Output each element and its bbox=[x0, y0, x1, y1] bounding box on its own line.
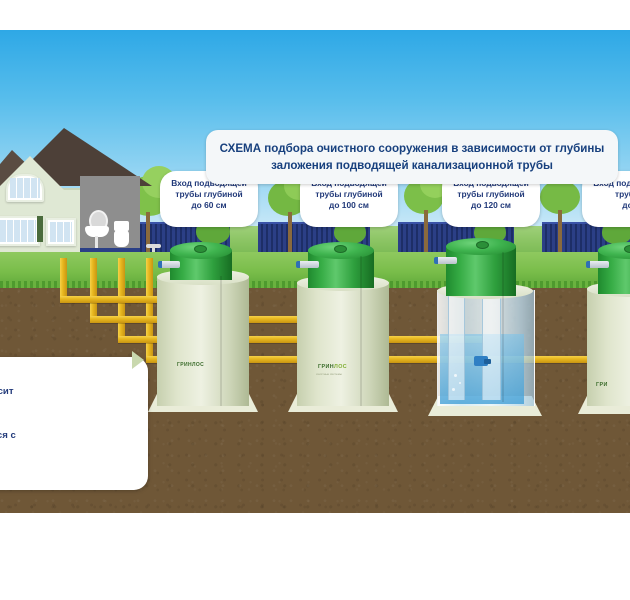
sink-drain-pipe bbox=[95, 236, 98, 248]
tank-inlet bbox=[434, 257, 457, 264]
window-grid bbox=[10, 178, 40, 198]
info-line-5: огонный магистрали. bbox=[0, 443, 136, 458]
info-line-4: страль прокладывается с bbox=[0, 429, 136, 444]
house-cutaway bbox=[0, 118, 178, 258]
diagram-title-line-1: СХЕМА подбора очистного сооружения в зав… bbox=[220, 140, 605, 157]
tank-logo: ГРИ bbox=[596, 382, 608, 388]
info-line-3: о сооружения от дома. bbox=[0, 414, 136, 429]
tank-body bbox=[157, 276, 249, 406]
pipe-vertical-1 bbox=[60, 258, 67, 300]
callout-line-2: трубы г bbox=[582, 189, 630, 200]
tank-body bbox=[297, 282, 389, 406]
window-side bbox=[46, 218, 76, 246]
diagram-title-line-2: заложения подводящей канализационной тру… bbox=[271, 157, 553, 174]
tank-logo-subtitle: очистные системы bbox=[316, 372, 342, 376]
tank-logo: ГРИНЛОС bbox=[318, 364, 347, 370]
window-grid bbox=[50, 222, 72, 242]
tank-logo-text: ГРИНЛОС bbox=[318, 364, 347, 370]
toilet-bowl bbox=[114, 230, 129, 247]
tank-logo: ГРИНЛОС bbox=[177, 362, 204, 368]
screenshot-root: ГРИНЛОС ГРИНЛОС очистные системы bbox=[0, 0, 630, 600]
callout-line-3: до 120 см bbox=[442, 200, 540, 211]
tank-pump-nozzle bbox=[484, 359, 491, 364]
tank-hatch bbox=[624, 245, 630, 253]
septic-tank-2: ГРИНЛОС очистные системы bbox=[288, 242, 398, 412]
window-shutter bbox=[37, 216, 43, 242]
tank-logo-text: ГРИНЛОС bbox=[177, 362, 204, 368]
septic-tank-4: ГРИ bbox=[578, 242, 630, 414]
air-bubble bbox=[452, 388, 455, 391]
tank-hatch bbox=[476, 241, 489, 249]
callout-line-2: трубы глубиной bbox=[300, 189, 398, 200]
tank-inner-column bbox=[482, 296, 501, 400]
diagram-title: СХЕМА подбора очистного сооружения в зав… bbox=[206, 130, 618, 184]
tank-body bbox=[587, 288, 630, 406]
window-grid bbox=[0, 220, 36, 242]
info-callout-box: РИНЛОС дводящей трубы зависит гистрали и… bbox=[0, 357, 148, 490]
info-line-2: гистрали из дома и bbox=[0, 400, 136, 415]
callout-line-2: трубы глубиной bbox=[160, 189, 258, 200]
tree-trunk bbox=[558, 210, 562, 252]
tank-logo-text: ГРИ bbox=[596, 382, 608, 388]
info-box-body: дводящей трубы зависит гистрали из дома … bbox=[0, 385, 136, 458]
callout-line-3: до 100 см bbox=[300, 200, 398, 211]
tank-inlet bbox=[158, 261, 180, 268]
callout-line-3: до 1 bbox=[582, 200, 630, 211]
info-line-1: дводящей трубы зависит bbox=[0, 385, 136, 400]
info-box-title: РИНЛОС bbox=[0, 366, 136, 378]
tank-inlet bbox=[586, 261, 609, 268]
info-box-arrow-icon bbox=[132, 351, 144, 369]
septic-tank-3 bbox=[428, 238, 542, 416]
tank-inner-column bbox=[448, 296, 465, 400]
septic-tank-1: ГРИНЛОС bbox=[148, 242, 258, 412]
air-bubble bbox=[459, 382, 461, 384]
infographic-illustration: ГРИНЛОС ГРИНЛОС очистные системы bbox=[0, 30, 630, 513]
tank-rib bbox=[220, 276, 222, 406]
tank-inlet bbox=[296, 261, 319, 268]
callout-line-3: до 60 см bbox=[160, 200, 258, 211]
air-bubble bbox=[454, 374, 457, 377]
pipe-vertical-2 bbox=[90, 258, 97, 320]
callout-line-2: трубы глубиной bbox=[442, 189, 540, 200]
tank-rib bbox=[360, 256, 362, 406]
tank-hatch bbox=[334, 245, 347, 253]
tank-hatch bbox=[194, 245, 207, 253]
tree-crown bbox=[540, 180, 580, 214]
window-upper bbox=[6, 174, 44, 202]
window-lower bbox=[0, 216, 40, 246]
tank-rib bbox=[502, 252, 504, 402]
